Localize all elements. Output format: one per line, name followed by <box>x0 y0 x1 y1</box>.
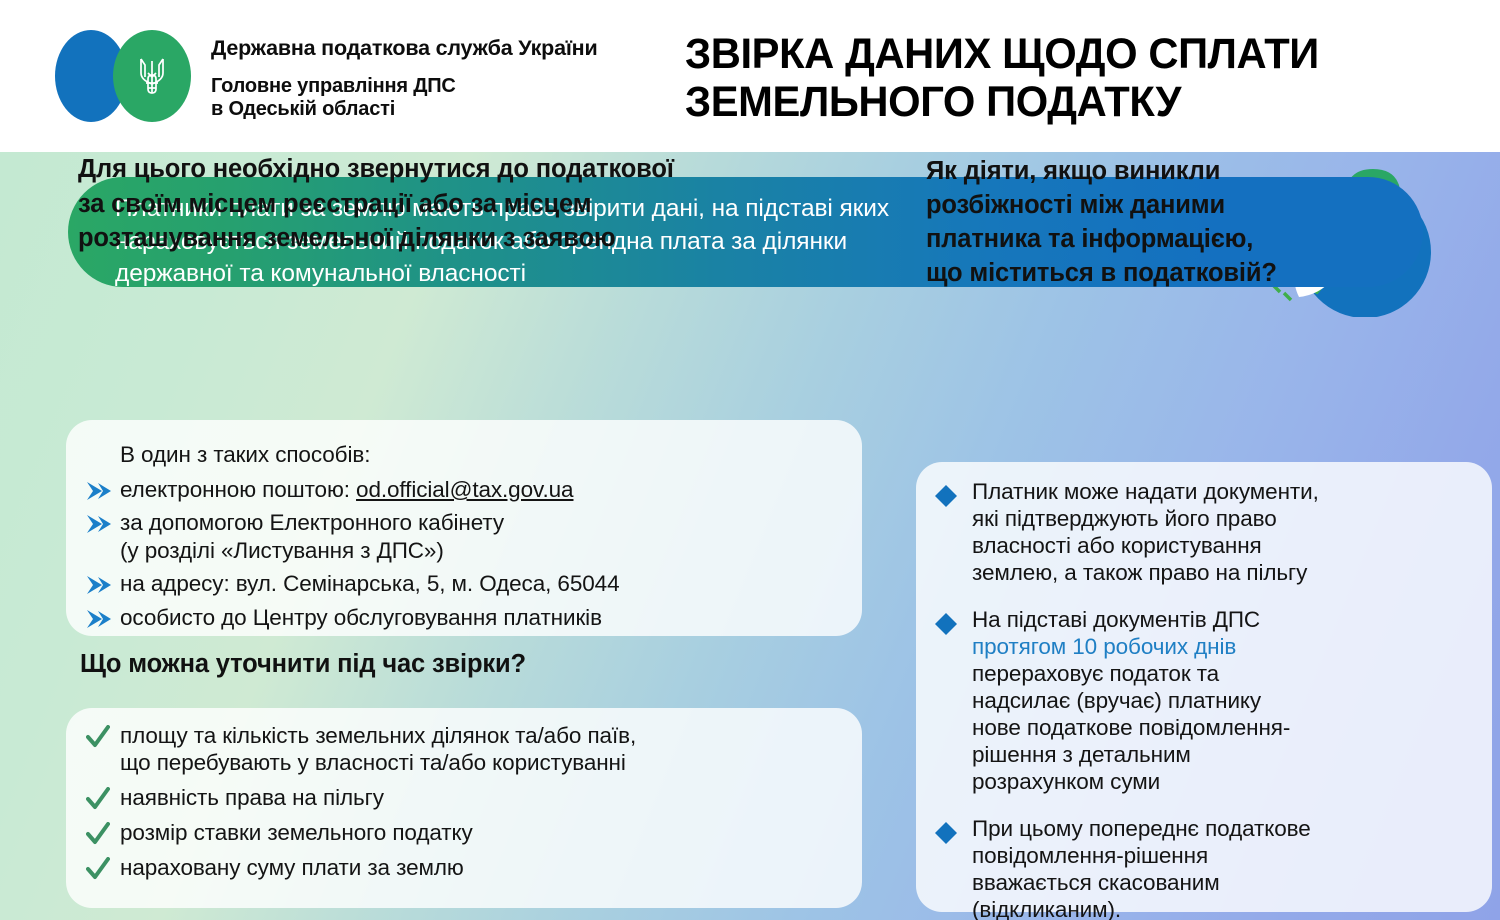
arrow-right-bullet-icon <box>86 570 120 595</box>
item-text-highlight: протягом 10 робочих днів <box>972 634 1236 659</box>
page-title: ЗВІРКА ДАНИХ ЩОДО СПЛАТИ ЗЕМЕЛЬНОГО ПОДА… <box>685 30 1461 126</box>
list-item: електронною поштою: od.official@tax.gov.… <box>86 476 842 503</box>
organization-names: Державна податкова служба України Головн… <box>211 36 598 122</box>
list-item: особисто до Центру обслуговування платни… <box>86 604 842 631</box>
diamond-bullet-icon <box>934 606 972 636</box>
diamond-bullet-icon <box>934 478 972 508</box>
methods-intro: В один з таких способів: <box>120 442 842 468</box>
list-item-text: При цьому попереднє податкове повідомлен… <box>972 815 1311 920</box>
left-heading: Для цього необхідно звернутися до податк… <box>78 152 878 256</box>
right-column: Як діяти, якщо виникли розбіжності між д… <box>908 152 1500 768</box>
right-heading: Як діяти, якщо виникли розбіжності між д… <box>926 154 1446 291</box>
page-header: Державна податкова служба України Головн… <box>0 0 1500 152</box>
list-item: за допомогою Електронного кабінету (у ро… <box>86 509 842 564</box>
arrow-right-bullet-icon <box>86 476 120 501</box>
list-item-text: за допомогою Електронного кабінету (у ро… <box>120 509 504 564</box>
list-item: розмір ставки земельного податку <box>86 819 842 846</box>
org-title-primary: Державна податкова служба України <box>211 36 598 61</box>
list-item: на адресу: вул. Семінарська, 5, м. Одеса… <box>86 570 842 597</box>
arrow-right-bullet-icon <box>86 604 120 629</box>
list-item-text: На підставі документів ДПС протягом 10 р… <box>972 606 1290 795</box>
logo-green-circle <box>113 30 191 122</box>
list-item-text: розмір ставки земельного податку <box>120 819 473 846</box>
list-item-text: площу та кількість земельних ділянок та/… <box>120 722 636 776</box>
left-subheading: Що можна уточнити під час звірки? <box>80 650 526 679</box>
procedure-card: Платник може надати документи, які підтв… <box>916 462 1492 912</box>
check-mark-icon <box>86 819 120 846</box>
check-mark-icon <box>86 784 120 811</box>
list-item-text: на адресу: вул. Семінарська, 5, м. Одеса… <box>120 570 620 597</box>
contact-methods-card: В один з таких способів: електронною пош… <box>66 420 862 636</box>
list-item-text: особисто до Центру обслуговування платни… <box>120 604 602 631</box>
item-text-after: перераховує податок та надсилає (вручає)… <box>972 661 1290 794</box>
item-text-before: Платник може надати документи, які підтв… <box>972 479 1319 585</box>
list-item-text: нараховану суму плати за землю <box>120 854 464 881</box>
check-mark-icon <box>86 722 120 749</box>
item-text-before: При цьому попереднє податкове повідомлен… <box>972 816 1311 920</box>
arrow-right-bullet-icon <box>86 509 120 534</box>
list-item: наявність права на пільгу <box>86 784 842 811</box>
list-item: При цьому попереднє податкове повідомлен… <box>934 815 1474 920</box>
list-item-text: наявність права на пільгу <box>120 784 384 811</box>
left-column: Для цього необхідно звернутися до податк… <box>0 152 880 768</box>
email-link[interactable]: od.official@tax.gov.ua <box>356 477 573 502</box>
diamond-bullet-icon <box>934 815 972 845</box>
item-text-before: На підставі документів ДПС <box>972 607 1260 632</box>
list-item: Платник може надати документи, які підтв… <box>934 478 1474 586</box>
list-item: На підставі документів ДПС протягом 10 р… <box>934 606 1474 795</box>
list-item: нараховану суму плати за землю <box>86 854 842 881</box>
org-title-secondary: Головне управління ДПС в Одеській област… <box>211 75 598 122</box>
trident-icon <box>135 53 169 99</box>
method-email-label: електронною поштою: <box>120 477 356 502</box>
list-item-text: Платник може надати документи, які підтв… <box>972 478 1319 586</box>
list-item: площу та кількість земельних ділянок та/… <box>86 722 842 776</box>
list-item-text: електронною поштою: od.official@tax.gov.… <box>120 476 573 503</box>
checklist-card: площу та кількість земельних ділянок та/… <box>66 708 862 908</box>
agency-logo <box>55 30 215 122</box>
check-mark-icon <box>86 854 120 881</box>
